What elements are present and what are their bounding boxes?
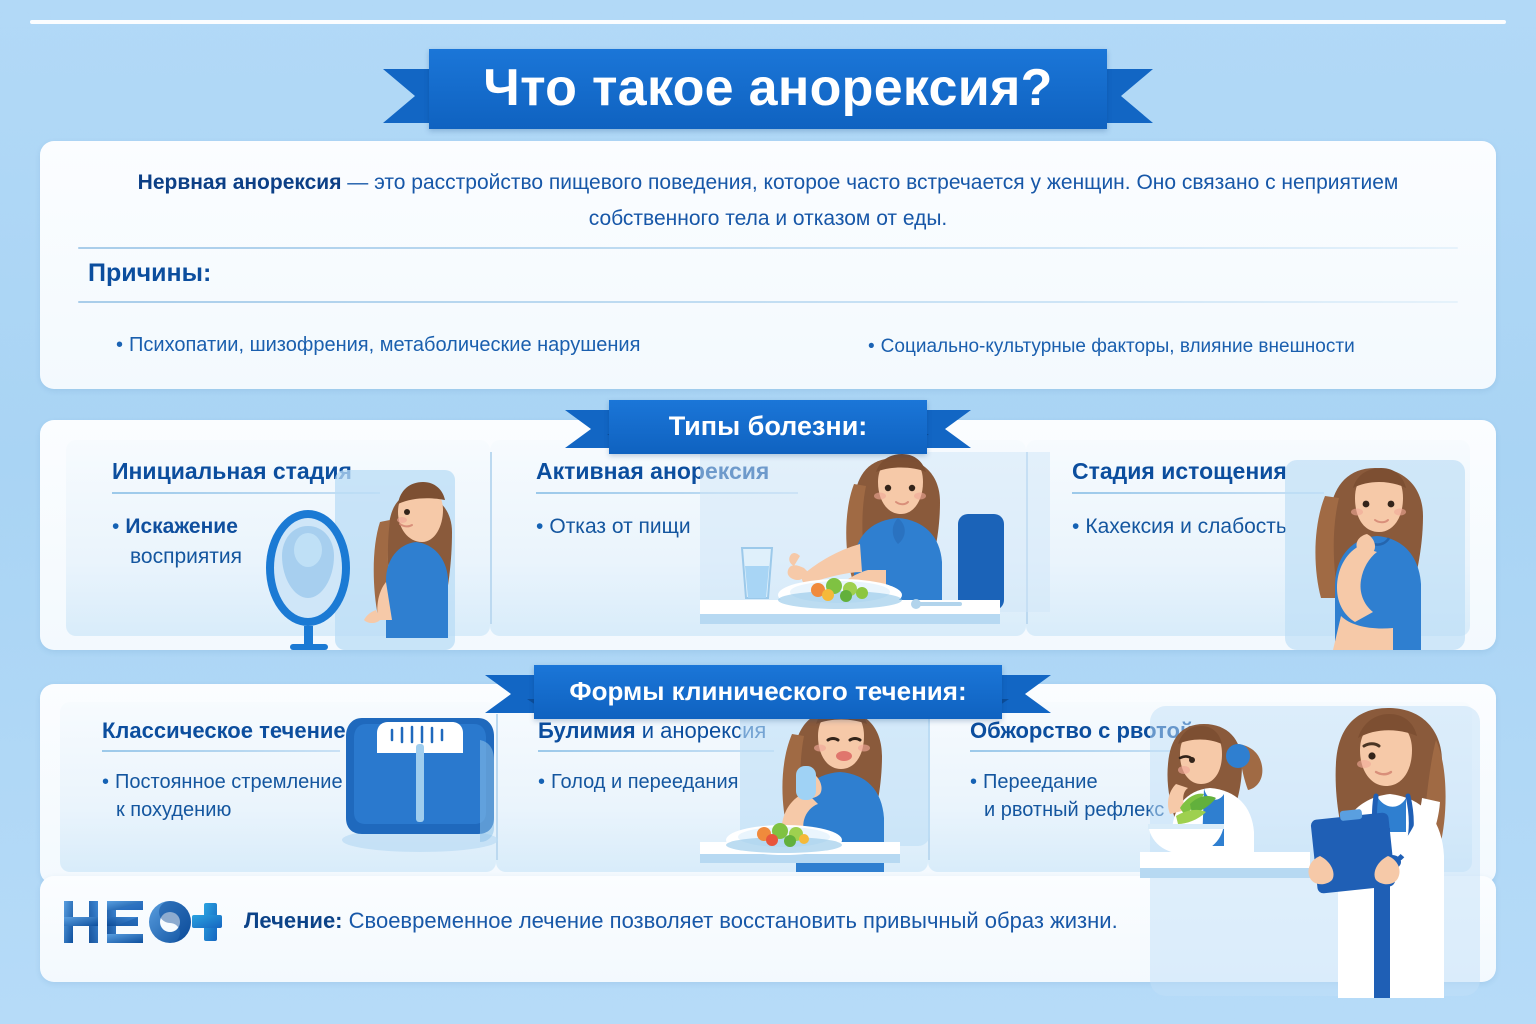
logo-plus-icon	[192, 903, 222, 941]
logo-letter-o	[149, 901, 191, 943]
intro-panel: Нервная анорексия — это расстройство пищ…	[40, 141, 1496, 389]
neo-plus-logo	[62, 897, 222, 947]
card-title: Стадия истощения	[1072, 458, 1287, 485]
cause-list-item: •Психопатии, шизофрения, метаболические …	[116, 334, 640, 357]
bullet-dot-icon: •	[112, 515, 119, 538]
bullet-dot-icon: •	[1072, 515, 1079, 538]
type-card-exhaustion-stage: Стадия истощения •Кахексия и слабость	[1026, 440, 1470, 636]
card-title-rule	[538, 750, 774, 752]
form-card-classic-course: Классическое течение •Постоянное стремле…	[60, 702, 496, 872]
card-bullet: •Переедание и рвотный рефлекс	[970, 768, 1164, 824]
page-title: Что такое анорексия?	[429, 49, 1107, 129]
card-title-rule	[536, 492, 798, 494]
bullet-dot-icon: •	[868, 336, 875, 357]
card-bullet-lead: Постоянное стремление	[115, 771, 343, 793]
bullet-dot-icon: •	[536, 515, 543, 538]
ribbon-tail-right	[999, 675, 1051, 713]
type-card-active-anorexia: Активная анорексия •Отказ от пищи	[490, 440, 1026, 636]
types-banner: Типы болезни:	[565, 396, 971, 458]
bullet-dot-icon: •	[116, 334, 123, 356]
cause-text: Психопатии, шизофрения, метаболические н…	[129, 334, 640, 356]
bullet-dot-icon: •	[970, 771, 977, 793]
logo-letter-n	[64, 901, 98, 943]
causes-heading: Причины:	[88, 259, 211, 288]
card-bullet: •Голод и переедания	[538, 768, 738, 796]
card-bullet: •Кахексия и слабость	[1072, 512, 1287, 542]
forms-card-row: Классическое течение •Постоянное стремле…	[60, 702, 1472, 872]
card-title: Классическое течение	[102, 718, 346, 744]
card-bullet: •Отказ от пищи	[536, 512, 691, 542]
type-card-initial-stage: Инициальная стадия •Искажение восприятия	[66, 440, 490, 636]
bullet-dot-icon: •	[102, 771, 109, 793]
treatment-text: Лечение: Своевременное лечение позволяет…	[244, 908, 1118, 934]
intro-divider-top	[78, 247, 1458, 249]
cause-text: Социально-культурные факторы, влияние вн…	[881, 336, 1355, 357]
card-title-rule	[102, 750, 340, 752]
card-bullet-lead: Отказ от пищи	[549, 515, 690, 538]
top-divider-rule	[30, 20, 1506, 24]
logo-letter-e	[107, 901, 143, 943]
intro-divider-bottom	[78, 301, 1458, 303]
card-bullet-rest: и рвотный рефлекс	[984, 799, 1164, 821]
card-bullet: •Постоянное стремление к похудению	[102, 768, 343, 824]
cause-list-item: •Социально-культурные факторы, влияние в…	[868, 336, 1355, 358]
forms-banner: Формы клинического течения:	[485, 661, 1051, 723]
treatment-lead: Лечение:	[244, 908, 343, 933]
card-bullet: •Искажение восприятия	[112, 512, 242, 572]
ribbon-tail-left	[485, 675, 537, 713]
forms-banner-label: Формы клинического течения:	[534, 665, 1002, 719]
card-bullet-lead: Переедание	[983, 771, 1098, 793]
intro-paragraph: Нервная анорексия — это расстройство пищ…	[78, 165, 1458, 237]
bullet-dot-icon: •	[538, 771, 545, 793]
card-bullet-rest: восприятия	[130, 545, 242, 568]
intro-lead-term: Нервная анорексия	[138, 171, 342, 194]
intro-body-text: — это расстройство пищевого поведения, к…	[341, 171, 1398, 230]
card-title: Инициальная стадия	[112, 458, 352, 485]
card-bullet-lead: Искажение	[125, 515, 238, 538]
treatment-body: Своевременное лечение позволяет восстано…	[343, 908, 1118, 933]
form-card-bulimia-anorexia: Булимия и анорексия •Голод и переедания	[496, 702, 928, 872]
form-card-binge-vomit: Обжорство с рвотой •Переедание и рвотный…	[928, 702, 1472, 872]
title-banner: Что такое анорексия?	[383, 43, 1153, 135]
card-title-rule	[112, 492, 380, 494]
types-banner-label: Типы болезни:	[609, 400, 927, 454]
card-title-rule	[1072, 492, 1324, 494]
card-bullet-rest: к похудению	[116, 799, 231, 821]
card-bullet-lead: Голод и переедания	[551, 771, 738, 793]
card-bullet-lead: Кахексия и слабость	[1085, 515, 1286, 538]
types-card-row: Инициальная стадия •Искажение восприятия…	[66, 440, 1470, 636]
card-title-rule	[970, 750, 1190, 752]
infographic-page: Что такое анорексия? Нервная анорексия —…	[0, 0, 1536, 1024]
card-title: Активная анорексия	[536, 458, 769, 485]
